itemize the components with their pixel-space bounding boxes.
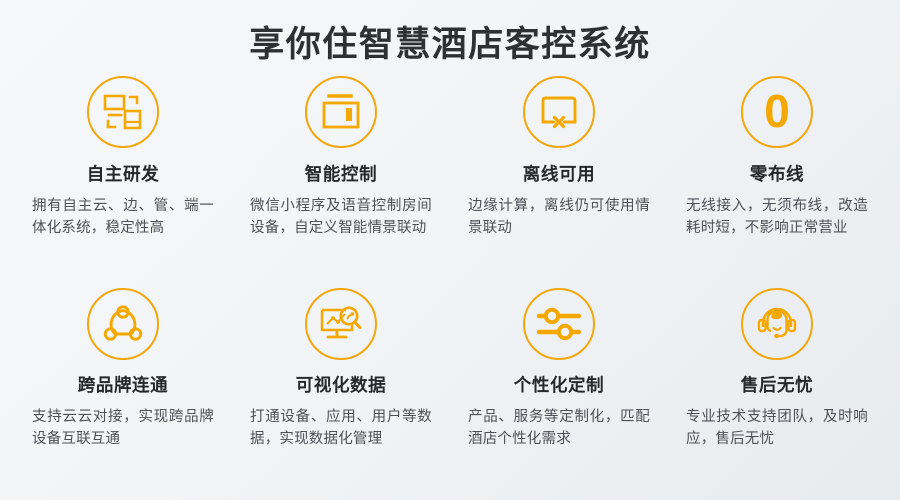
feature-description: 微信小程序及语音控制房间设备，自定义智能情景联动 xyxy=(250,195,432,240)
feature-description: 产品、服务等定制化，匹配酒店个性化需求 xyxy=(468,406,650,451)
feature-card-zero-wiring: 0 零布线 无线接入，无须布线，改造耗时短，不影响正常营业 xyxy=(668,76,886,288)
feature-description: 支持云云对接，实现跨品牌设备互联互通 xyxy=(32,406,214,451)
feature-card-offline-available: 离线可用 边缘计算，离线仍可使用情景联动 xyxy=(450,76,668,288)
zero-digit-glyph: 0 xyxy=(764,88,790,134)
feature-description: 专业技术支持团队，及时响应，售后无忧 xyxy=(686,406,868,451)
feature-card-after-sales: 售后无忧 专业技术支持团队，及时响应，售后无忧 xyxy=(668,288,886,500)
network-share-nodes-icon xyxy=(87,288,159,360)
feature-card-cross-brand: 跨品牌连通 支持云云对接，实现跨品牌设备互联互通 xyxy=(14,288,232,500)
feature-title: 自主研发 xyxy=(87,161,159,186)
feature-title: 可视化数据 xyxy=(296,372,387,397)
feature-title: 零布线 xyxy=(750,161,804,186)
zero-digit-icon: 0 xyxy=(741,76,813,148)
feature-title: 跨品牌连通 xyxy=(78,372,169,397)
page-title: 享你住智慧酒店客控系统 xyxy=(0,14,900,76)
feature-title: 智能控制 xyxy=(305,161,377,186)
blocks-layout-icon xyxy=(87,76,159,148)
feature-description: 边缘计算，离线仍可使用情景联动 xyxy=(468,195,650,240)
feature-description: 无线接入，无须布线，改造耗时短，不影响正常营业 xyxy=(686,195,868,240)
screen-offline-x-icon xyxy=(523,76,595,148)
feature-grid: 自主研发 拥有自主云、边、管、端一体化系统，稳定性高 智能控制 微信小程序及语音… xyxy=(0,76,900,500)
feature-card-data-visualization: 可视化数据 打通设备、应用、用户等数据，实现数据化管理 xyxy=(232,288,450,500)
feature-highlights-page: 享你住智慧酒店客控系统 自主研发 拥有自主云、边、管、端一体化系统，稳定性高 xyxy=(0,0,900,500)
feature-description: 拥有自主云、边、管、端一体化系统，稳定性高 xyxy=(32,195,214,240)
smart-panel-icon xyxy=(305,76,377,148)
feature-title: 售后无忧 xyxy=(741,372,813,397)
feature-title: 个性化定制 xyxy=(514,372,605,397)
feature-card-independent-rd: 自主研发 拥有自主云、边、管、端一体化系统，稳定性高 xyxy=(14,76,232,288)
feature-card-smart-control: 智能控制 微信小程序及语音控制房间设备，自定义智能情景联动 xyxy=(232,76,450,288)
headset-support-agent-icon xyxy=(741,288,813,360)
feature-card-customization: 个性化定制 产品、服务等定制化，匹配酒店个性化需求 xyxy=(450,288,668,500)
feature-title: 离线可用 xyxy=(523,161,595,186)
sliders-settings-icon xyxy=(523,288,595,360)
feature-description: 打通设备、应用、用户等数据，实现数据化管理 xyxy=(250,406,432,451)
monitor-chart-search-icon xyxy=(305,288,377,360)
